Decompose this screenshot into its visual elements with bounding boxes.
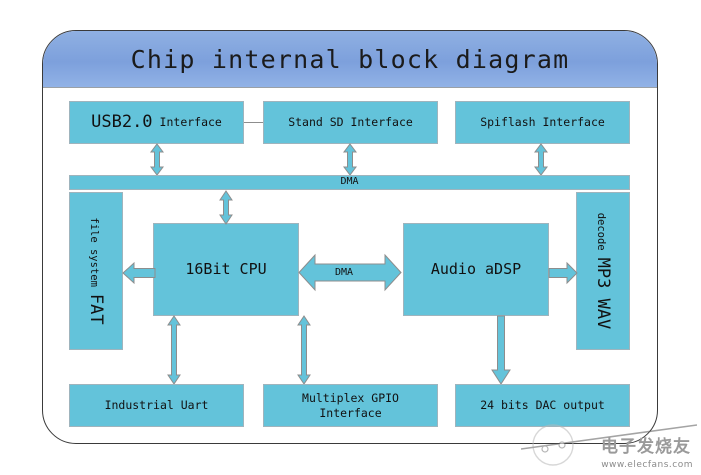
fat-label-small: file system (88, 217, 100, 287)
arrow-adsp-to-mp3 (549, 261, 577, 285)
block-usb-interface: USB2.0 Interface (69, 101, 244, 144)
block-mp3-wav-decode: decode MP3 WAV (576, 192, 630, 350)
center-dma-label: DMA (335, 267, 353, 278)
fat-label-big: FAT (86, 294, 106, 325)
watermark-cn-text: 电子发烧友 (601, 432, 691, 457)
arrow-cpu-to-gpio (297, 316, 311, 384)
fat-rotated-label: file system FAT (86, 217, 106, 324)
diagram-title-banner: Chip internal block diagram (43, 31, 657, 88)
industrial-uart-label: Industrial Uart (105, 398, 209, 412)
block-dac-output: 24 bits DAC output (455, 384, 630, 427)
block-industrial-uart: Industrial Uart (69, 384, 244, 427)
arrow-cpu-to-uart (167, 316, 181, 384)
block-audio-adsp: Audio aDSP (403, 223, 549, 316)
adsp-label: Audio aDSP (431, 260, 521, 279)
usb-sd-connector (244, 122, 263, 123)
usb-label-big: USB2.0 (91, 112, 152, 133)
arrow-cpu-to-fat (123, 261, 155, 285)
block-multiplex-gpio: Multiplex GPIO Interface (263, 384, 438, 427)
mp3-label-big: MP3 WAV (593, 258, 613, 330)
mp3-rotated-label: decode MP3 WAV (593, 213, 613, 330)
arrow-sd-to-dma (343, 144, 357, 175)
mp3-label-small: decode (595, 213, 607, 251)
arrow-spiflash-to-dma (534, 144, 548, 175)
block-stand-sd-interface: Stand SD Interface (263, 101, 438, 144)
block-16bit-cpu: 16Bit CPU (153, 223, 299, 316)
dac-output-label: 24 bits DAC output (480, 398, 605, 412)
block-fat-file-system: file system FAT (69, 192, 123, 350)
arrow-cpu-to-dma-bus (219, 191, 233, 224)
arrow-adsp-to-dac (492, 316, 510, 384)
stand-sd-label: Stand SD Interface (288, 115, 413, 129)
multiplex-gpio-label-line1: Multiplex GPIO (302, 391, 399, 405)
page-title: Chip internal block diagram (131, 45, 570, 74)
diagram-frame: Chip internal block diagram USB2.0 Inter… (42, 30, 658, 444)
block-spiflash-interface: Spiflash Interface (455, 101, 630, 144)
spiflash-label: Spiflash Interface (480, 115, 605, 129)
watermark-url: www.elecfans.com (601, 460, 693, 470)
usb-label-small: Interface (160, 115, 222, 129)
block-dma-bus: DMA (69, 175, 630, 190)
dma-bus-label: DMA (340, 176, 358, 189)
multiplex-gpio-label-line2: Interface (319, 406, 381, 420)
arrow-usb-to-dma (150, 144, 164, 175)
cpu-label: 16Bit CPU (185, 260, 266, 279)
